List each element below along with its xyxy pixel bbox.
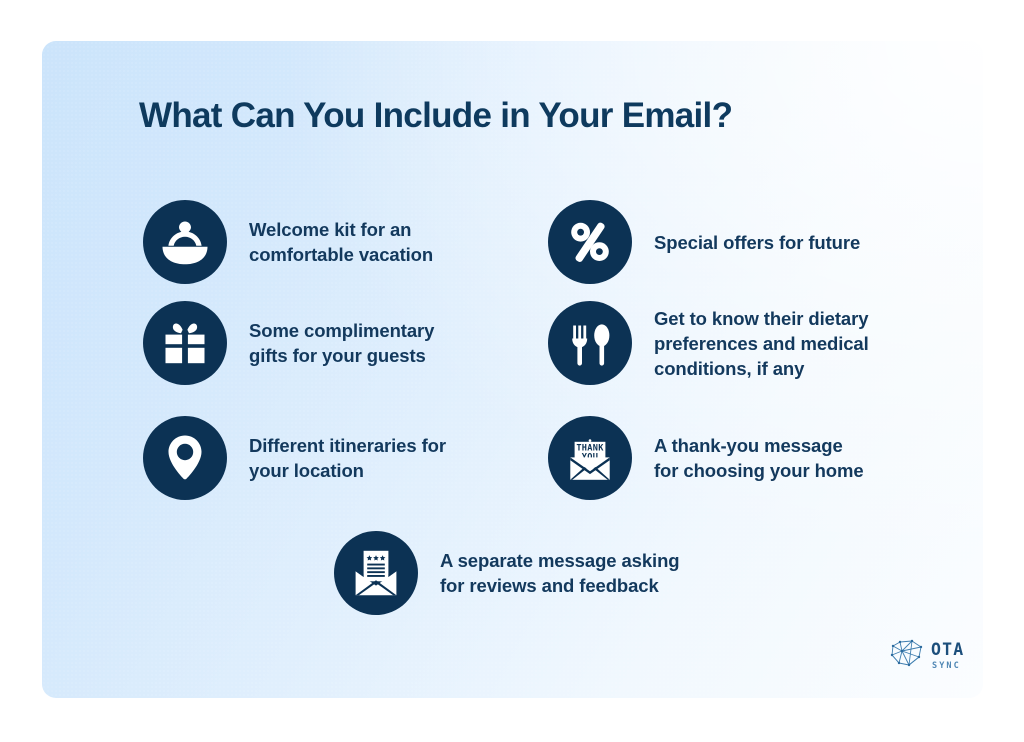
infographic-card: What Can You Include in Your Email? Welc… xyxy=(42,41,983,698)
basket-heart-icon xyxy=(143,200,227,284)
list-item: A separate message asking for reviews an… xyxy=(334,531,680,615)
list-item: Get to know their dietary preferences an… xyxy=(548,301,869,385)
list-item-label: Welcome kit for an comfortable vacation xyxy=(249,217,433,267)
list-item-label: A separate message asking for reviews an… xyxy=(440,548,680,598)
list-item: Special offers for future xyxy=(548,200,860,284)
otasync-logo: OTA SYNC xyxy=(890,638,974,674)
list-item: Welcome kit for an comfortable vacation xyxy=(143,200,433,284)
list-item: Different itineraries for your location xyxy=(143,416,446,500)
map-pin-icon xyxy=(143,416,227,500)
list-item-label: Different itineraries for your location xyxy=(249,433,446,483)
list-item-label: Some complimentary gifts for your guests xyxy=(249,318,434,368)
page-title: What Can You Include in Your Email? xyxy=(139,96,732,136)
logo-name-top: OTA xyxy=(931,642,964,659)
thank-you-envelope-icon-item: THANK YOU A thank-you message for choosi… xyxy=(548,416,864,500)
logo-wordmark: OTA SYNC xyxy=(931,642,964,670)
review-letter-envelope-icon xyxy=(334,531,418,615)
gift-box-icon xyxy=(143,301,227,385)
page-canvas: What Can You Include in Your Email? Welc… xyxy=(0,0,1024,742)
percent-icon xyxy=(548,200,632,284)
polygonal-brain-network-icon xyxy=(890,639,924,674)
fork-spoon-icon xyxy=(548,301,632,385)
list-item-label: Special offers for future xyxy=(654,230,860,255)
list-item-label: Get to know their dietary preferences an… xyxy=(654,306,869,381)
list-item-label: A thank-you message for choosing your ho… xyxy=(654,433,864,483)
logo-name-bottom: SYNC xyxy=(932,662,961,671)
thank-you-envelope-icon: THANK YOU xyxy=(548,416,632,500)
list-item: Some complimentary gifts for your guests xyxy=(143,301,434,385)
